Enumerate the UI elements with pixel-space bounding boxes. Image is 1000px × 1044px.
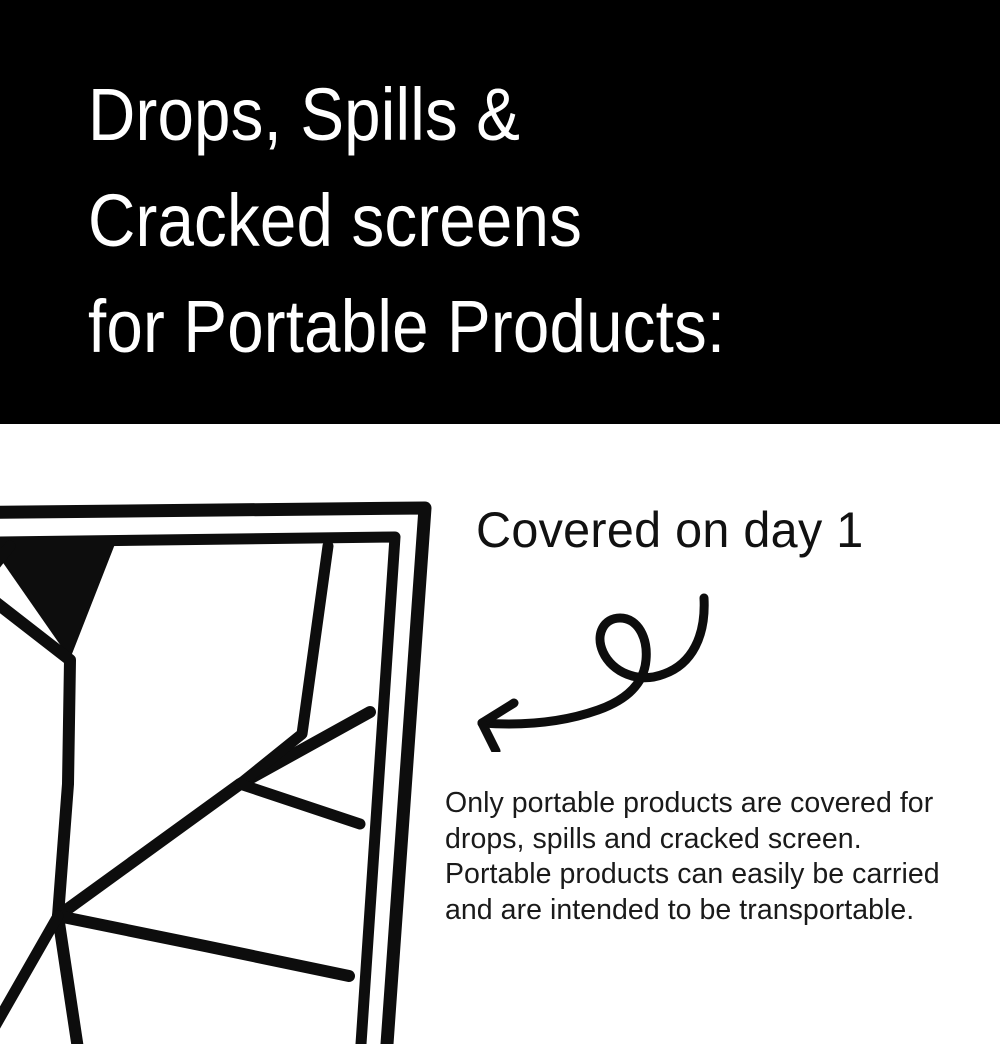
callout-heading: Covered on day 1	[476, 502, 864, 558]
crack-line-6	[240, 784, 360, 824]
body-paragraph: Only portable products are covered for d…	[445, 786, 985, 928]
cracked-screen-svg	[0, 484, 440, 1044]
crack-line-3	[58, 916, 78, 1044]
title-line-3: for Portable Products:	[88, 274, 867, 380]
paragraph-line-2: drops, spills and cracked screen.	[445, 822, 985, 858]
paragraph-line-4: and are intended to be transportable.	[445, 893, 985, 929]
title-line-2: Cracked screens	[88, 168, 867, 274]
crack-line-7	[58, 916, 349, 976]
title-line-1: Drops, Spills &	[88, 62, 867, 168]
curved-loop-arrow-svg	[452, 592, 752, 752]
cracked-screen-illustration	[0, 484, 440, 1044]
page-title: Drops, Spills & Cracked screens for Port…	[88, 62, 968, 380]
header-band: Drops, Spills & Cracked screens for Port…	[0, 0, 1000, 424]
crack-line-8	[0, 916, 58, 1044]
curved-loop-arrow	[452, 592, 752, 752]
body-area: Covered on day 1 Only portable products …	[0, 424, 1000, 1000]
crack-shard-fill	[0, 544, 115, 659]
paragraph-line-3: Portable products can easily be carried	[445, 857, 985, 893]
paragraph-line-1: Only portable products are covered for	[445, 786, 985, 822]
